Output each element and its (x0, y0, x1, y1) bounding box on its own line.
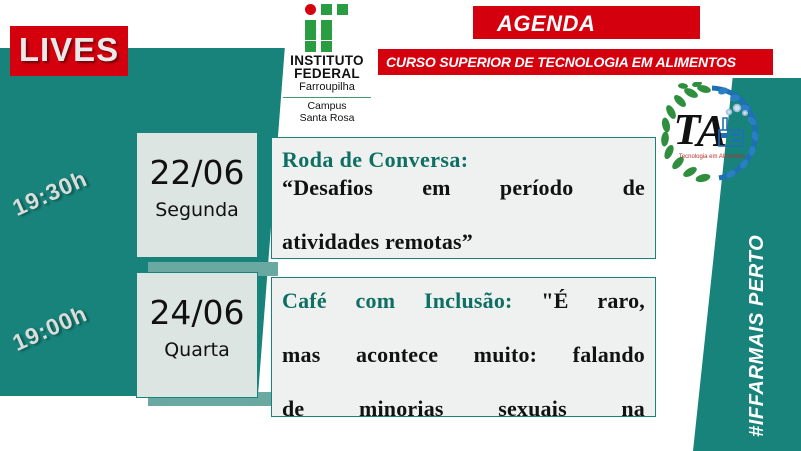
event-subtitle-1: “Desafios em período de atividades remot… (282, 174, 645, 282)
hashtag-label: #IFFARMAIS PERTO (746, 235, 769, 437)
event-subtitle-2-line3: de minorias sexuais na (282, 395, 645, 449)
event-subtitle-1-line1: “Desafios em período de (282, 174, 645, 228)
if-logo-line3: Farroupilha (272, 81, 382, 94)
if-logo-grid-icon (305, 4, 349, 52)
lives-badge-label: LIVES (10, 31, 128, 69)
date-value-2: 24/06 (137, 295, 257, 331)
course-emblem-logo: T A Tecnologia em Alimentos (657, 82, 767, 184)
weekday-value-2: Quarta (137, 339, 257, 361)
event-subtitle-2-line1: Café com Inclusão: "É raro, (282, 287, 645, 341)
date-box-1: 22/06 Segunda (136, 132, 258, 258)
date-value-1: 22/06 (137, 155, 257, 191)
event-title-1: Roda de Conversa: (282, 146, 645, 173)
if-logo-line2: FEDERAL (272, 68, 382, 81)
if-logo-campus-line1: Campus (272, 100, 382, 112)
event-subtitle-2: Café com Inclusão: "É raro, mas acontece… (282, 287, 645, 451)
lives-badge: LIVES (10, 26, 128, 76)
event-subtitle-2-line2: mas acontece muito: falando (282, 341, 645, 395)
agenda-banner: AGENDA (473, 6, 700, 39)
poster-canvas: LIVES INSTITUTO FEDERAL Farroupilha Camp… (0, 0, 801, 451)
if-logo-campus-line2: Santa Rosa (272, 112, 382, 124)
ta-logo-caption: Tecnologia em Alimentos (679, 154, 745, 160)
course-banner-label: CURSO SUPERIOR DE TECNOLOGIA EM ALIMENTO… (378, 49, 773, 70)
event-subtitle-1-line2: atividades remotas” (282, 228, 645, 282)
event-card-2: Café com Inclusão: "É raro, mas acontece… (271, 277, 656, 417)
date-box-2: 24/06 Quarta (136, 272, 258, 398)
hashtag-vertical: #IFFARMAIS PERTO (767, 207, 793, 437)
weekday-value-1: Segunda (137, 199, 257, 221)
agenda-banner-label: AGENDA (473, 6, 700, 37)
if-logo-divider (283, 97, 371, 98)
instituto-federal-logo: INSTITUTO FEDERAL Farroupilha Campus San… (272, 4, 382, 124)
event-subtitle-2-line1-rest: "É raro, (513, 288, 645, 313)
course-banner: CURSO SUPERIOR DE TECNOLOGIA EM ALIMENTO… (378, 49, 773, 75)
event-card-1: Roda de Conversa: “Desafios em período d… (271, 137, 656, 259)
event-title-2: Café com Inclusão: (282, 288, 513, 313)
